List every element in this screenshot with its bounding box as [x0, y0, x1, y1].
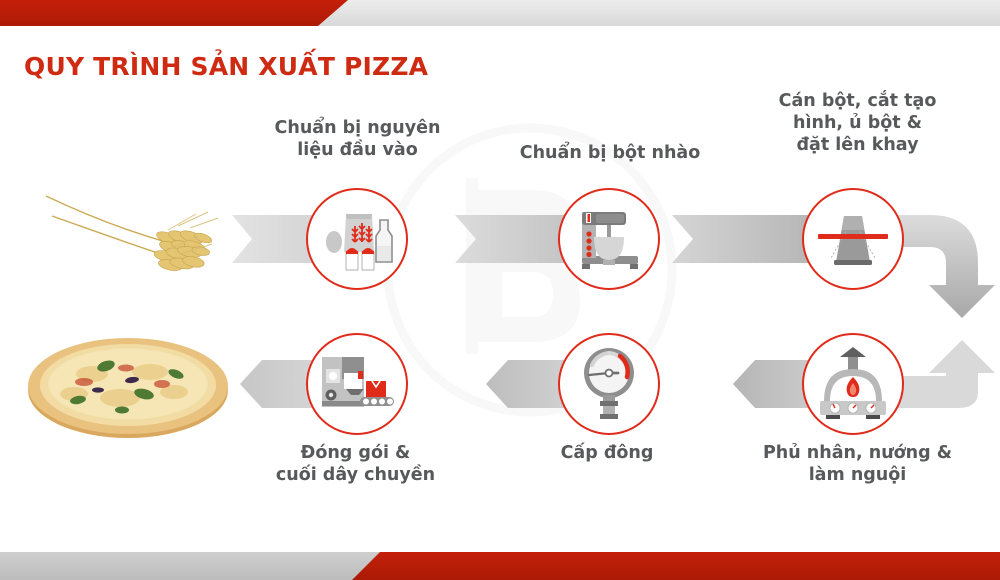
- process-flow-arrows: [0, 0, 1000, 580]
- step-label-2: Chuẩn bị bột nhào: [495, 143, 725, 165]
- flow-arrow-u-turn: [893, 215, 995, 318]
- infographic-canvas: QUY TRÌNH SẢN XUẤT PIZZA: [0, 0, 1000, 580]
- step-node-2[interactable]: [558, 188, 660, 290]
- ingredients-icon: [308, 190, 406, 288]
- dough-press-icon: [804, 190, 902, 288]
- pizza-oven-icon: [804, 335, 902, 433]
- red-cutting-bar-icon: [818, 234, 888, 239]
- bottom-banner-bar: [0, 552, 1000, 580]
- red-box-icon: [366, 381, 386, 397]
- step-node-3[interactable]: [802, 188, 904, 290]
- oven-legs-icon: [826, 415, 880, 419]
- step-label-4: Phủ nhân, nướng & làm nguội: [745, 443, 970, 487]
- packaging-machine-icon: [308, 335, 406, 433]
- base-plate-icon: [834, 260, 872, 265]
- egg-icon: [326, 231, 342, 253]
- step-label-3: Cán bột, cắt tạo hình, ủ bột & đặt lên k…: [750, 91, 965, 157]
- milk-bottle-icon: [376, 220, 392, 262]
- pepper-shaker-icon: [362, 248, 374, 270]
- gauge-dials-icon: [830, 403, 876, 413]
- step-node-4[interactable]: [802, 333, 904, 435]
- gauge-stem-icon: [600, 395, 618, 419]
- step-node-5[interactable]: [558, 333, 660, 435]
- salt-shaker-icon: [346, 248, 358, 270]
- conveyor-belt-icon: [360, 397, 394, 406]
- step-node-1[interactable]: [306, 188, 408, 290]
- wheat-ears-photo: [18, 178, 233, 290]
- whisk-shaft-icon: [607, 225, 611, 237]
- stand-mixer-icon: [560, 190, 658, 288]
- pressure-gauge-icon: [560, 335, 658, 433]
- pizza-photo: [22, 330, 234, 442]
- step-label-5: Cấp đông: [532, 443, 682, 465]
- flow-connector-right: [893, 340, 995, 416]
- step-label-6: Đóng gói & cuối dây chuyền: [253, 443, 458, 487]
- step-label-1: Chuẩn bị nguyên liệu đầu vào: [255, 118, 460, 162]
- step-node-6[interactable]: [306, 333, 408, 435]
